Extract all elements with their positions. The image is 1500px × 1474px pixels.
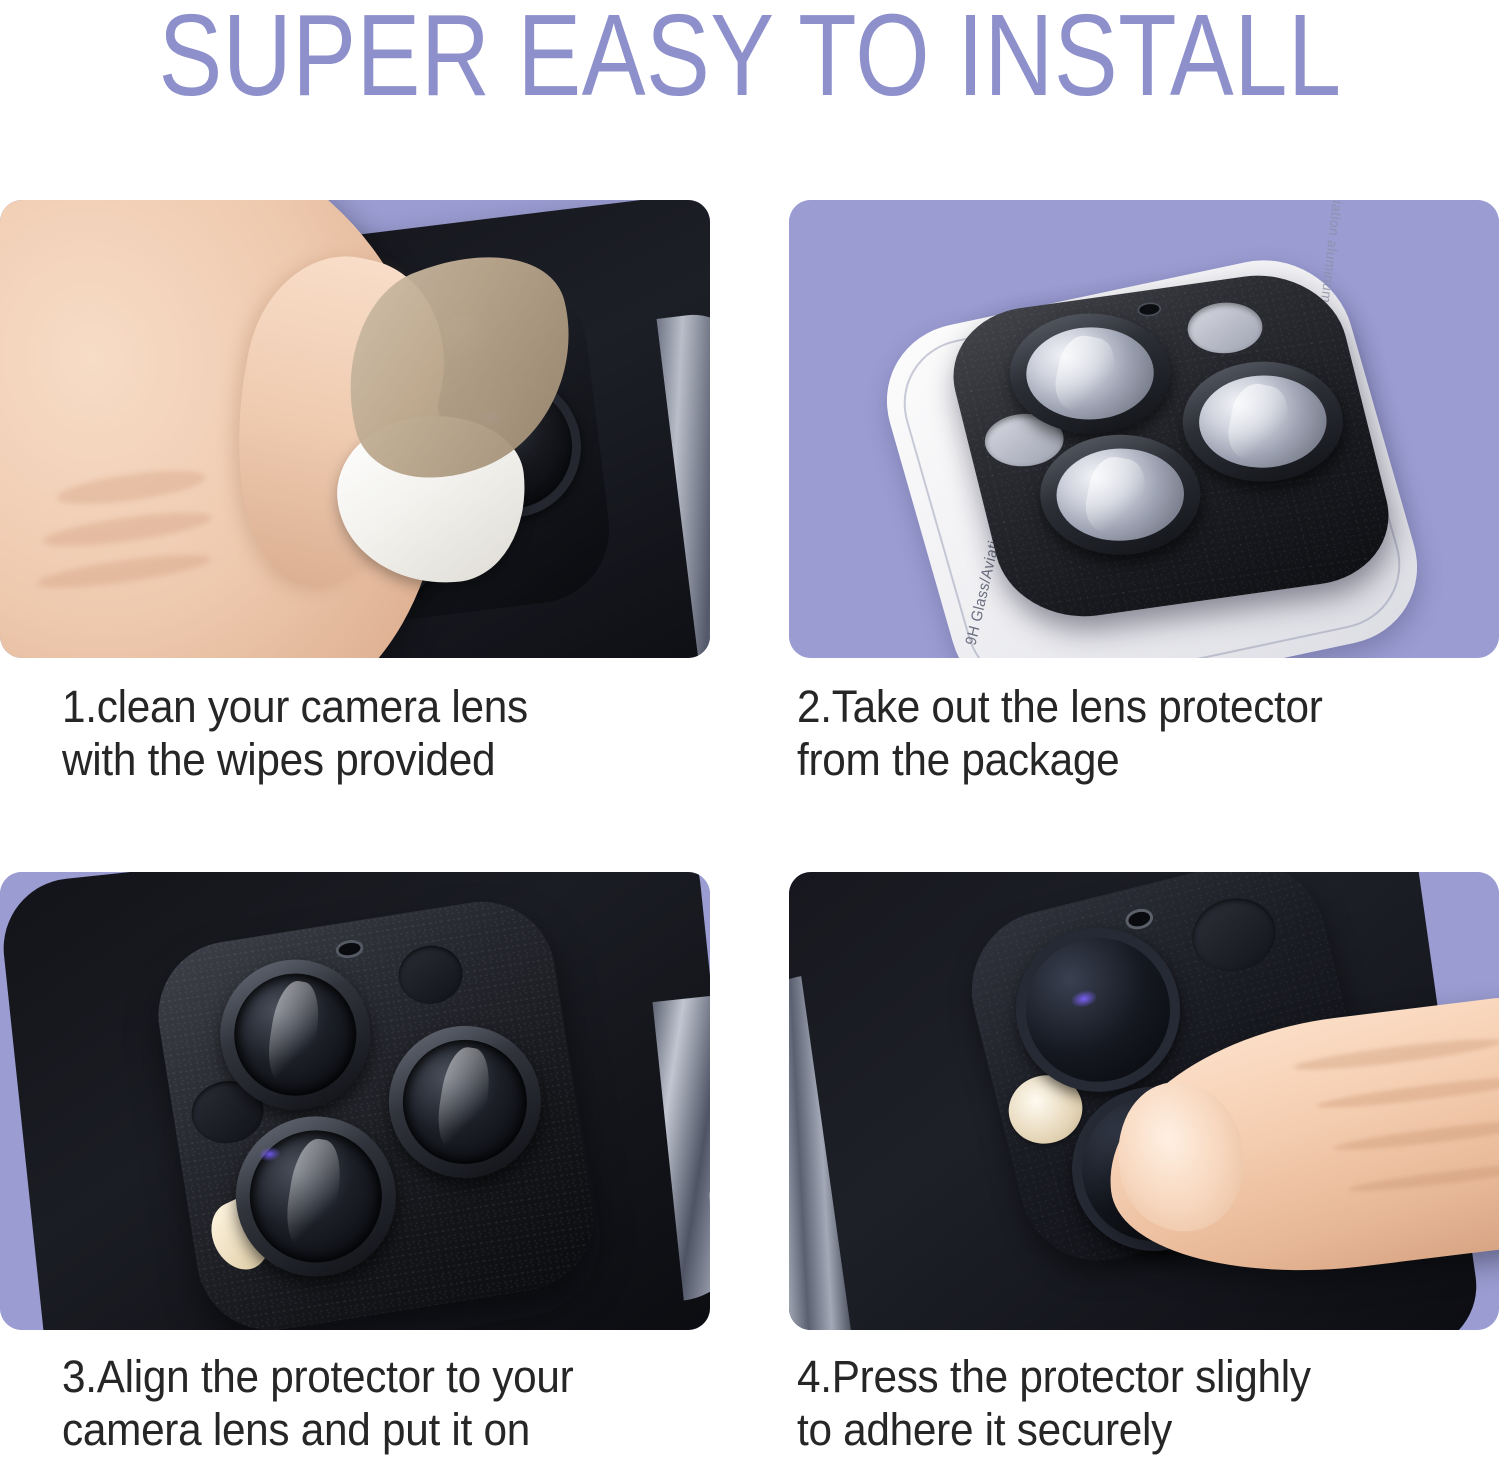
knuckle-crease	[1348, 1159, 1499, 1195]
step-card-3: 3.Align the protector to your camera len…	[0, 805, 712, 1474]
knuckle-crease	[1333, 1115, 1499, 1155]
lens-protector-plate-icon	[148, 891, 604, 1330]
step-1-photo	[0, 200, 710, 658]
knuckle-crease	[1315, 1072, 1499, 1113]
step-card-1: 1.clean your camera lens with the wipes …	[0, 112, 712, 805]
page-title: SUPER EASY TO INSTALL	[158, 1, 1341, 112]
step-card-2: 9H Glass/Aviation aluminum 9H Glass/Avia…	[787, 112, 1500, 805]
grid-gutter	[712, 805, 787, 1474]
knuckle-crease	[41, 506, 213, 553]
phone-side-rail-icon	[657, 308, 710, 658]
knuckle-crease	[55, 464, 207, 511]
step-3-caption: 3.Align the protector to your camera len…	[62, 1350, 673, 1456]
knuckle-crease	[35, 548, 212, 594]
grid-gutter	[712, 112, 787, 805]
step-1-caption: 1.clean your camera lens with the wipes …	[62, 680, 673, 786]
step-2-caption: 2.Take out the lens protector from the p…	[797, 680, 1458, 786]
step-3-photo	[0, 872, 710, 1330]
phone-side-rail-icon	[789, 976, 861, 1330]
step-4-caption: 4.Press the protector slighly to adhere …	[797, 1350, 1458, 1456]
phone-side-rail-icon	[652, 995, 710, 1300]
step-card-4: 4.Press the protector slighly to adhere …	[787, 805, 1500, 1474]
install-steps-grid: 1.clean your camera lens with the wipes …	[0, 112, 1500, 1474]
lens-sparkle	[258, 1145, 282, 1162]
lens-protector-plate-icon	[938, 265, 1405, 627]
lens-sparkle	[1069, 987, 1098, 1009]
step-2-photo: 9H Glass/Aviation aluminum 9H Glass/Avia…	[789, 200, 1499, 658]
step-4-photo	[789, 872, 1499, 1330]
knuckle-crease	[1292, 1033, 1499, 1074]
page-header: SUPER EASY TO INSTALL	[0, 0, 1500, 112]
